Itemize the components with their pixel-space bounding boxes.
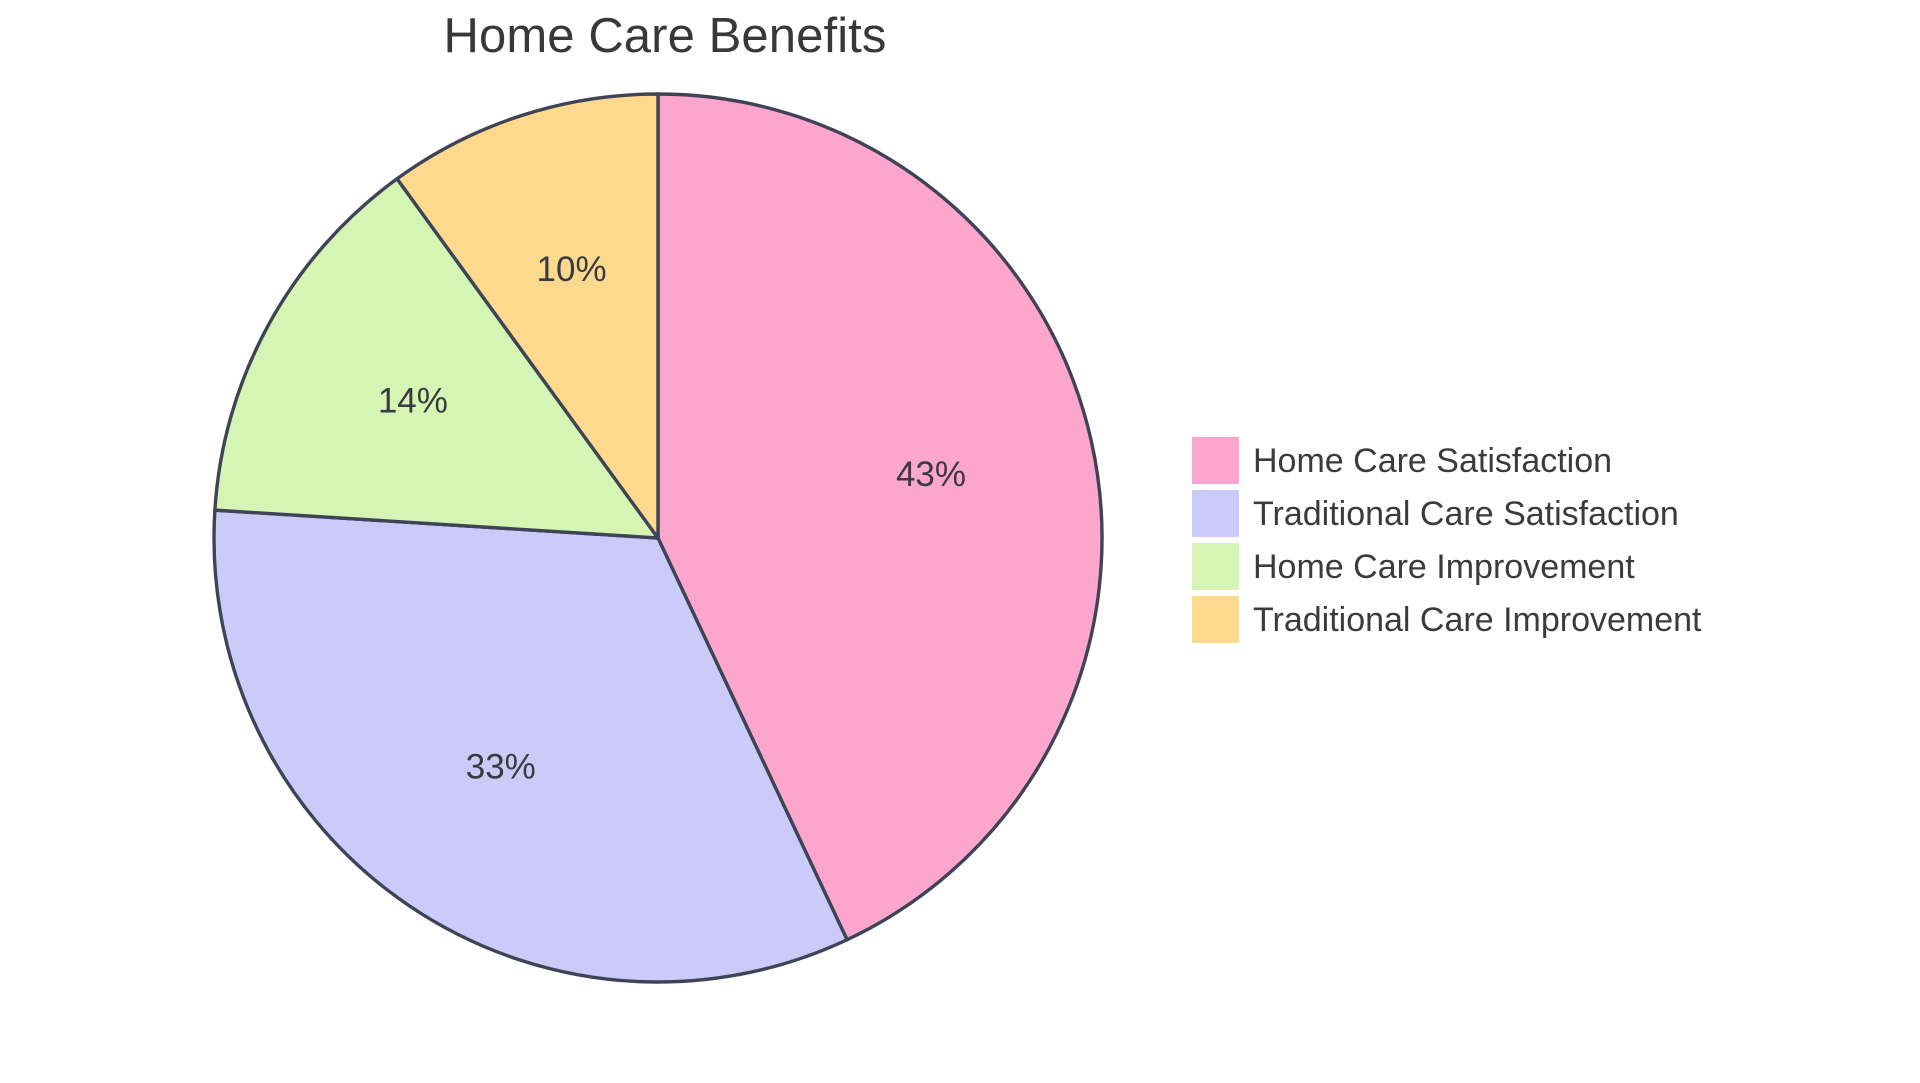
legend-item[interactable]: Traditional Care Satisfaction — [1192, 487, 1701, 540]
legend-item-label: Home Care Satisfaction — [1253, 444, 1612, 478]
legend-swatch-icon — [1192, 596, 1239, 643]
pie-plot-area: 43%33%14%10% — [212, 92, 1104, 984]
legend-item-label: Traditional Care Satisfaction — [1253, 497, 1679, 531]
legend-swatch-icon — [1192, 490, 1239, 537]
pie-slice-label: 10% — [537, 250, 607, 289]
legend-swatch-icon — [1192, 437, 1239, 484]
legend-item[interactable]: Traditional Care Improvement — [1192, 593, 1701, 646]
legend-item[interactable]: Home Care Improvement — [1192, 540, 1701, 593]
pie-slice-label: 43% — [896, 455, 966, 494]
chart-legend: Home Care SatisfactionTraditional Care S… — [1192, 434, 1701, 646]
legend-item[interactable]: Home Care Satisfaction — [1192, 434, 1701, 487]
pie-chart-figure: Home Care Benefits 43%33%14%10% Home Car… — [0, 0, 1920, 1083]
chart-title: Home Care Benefits — [0, 8, 1330, 64]
pie-slice-label: 14% — [378, 381, 448, 420]
pie-slice-label: 33% — [466, 748, 536, 787]
pie-slices-group — [214, 94, 1102, 982]
legend-item-label: Traditional Care Improvement — [1253, 603, 1701, 637]
legend-item-label: Home Care Improvement — [1253, 550, 1635, 584]
pie-svg: 43%33%14%10% — [212, 92, 1104, 984]
legend-swatch-icon — [1192, 543, 1239, 590]
